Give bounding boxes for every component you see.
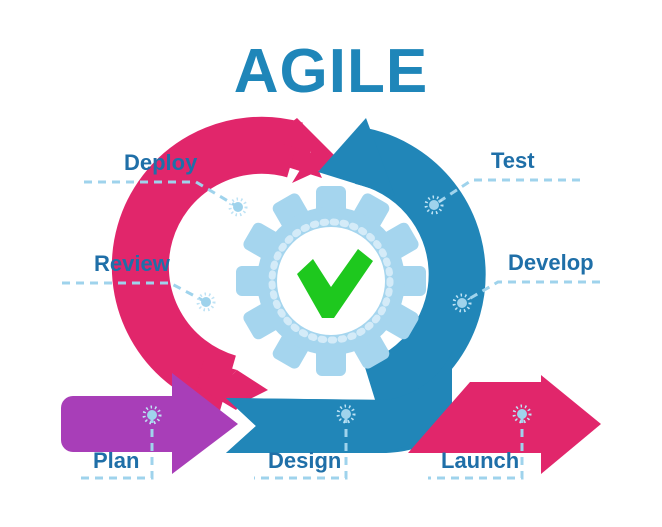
page-title: AGILE [234,37,428,106]
stage-label-review[interactable]: Review [94,251,171,276]
agile-diagram-canvas: AGILE [0,0,662,527]
dot-deploy [230,199,246,215]
stage-label-develop[interactable]: Develop [508,250,594,275]
stage-label-plan[interactable]: Plan [93,448,139,473]
dot-review [198,294,214,310]
stage-label-launch[interactable]: Launch [441,448,519,473]
stage-label-deploy[interactable]: Deploy [124,150,198,175]
stage-label-test[interactable]: Test [491,148,535,173]
stage-label-design[interactable]: Design [268,448,341,473]
agile-infographic: AGILE [0,0,662,527]
